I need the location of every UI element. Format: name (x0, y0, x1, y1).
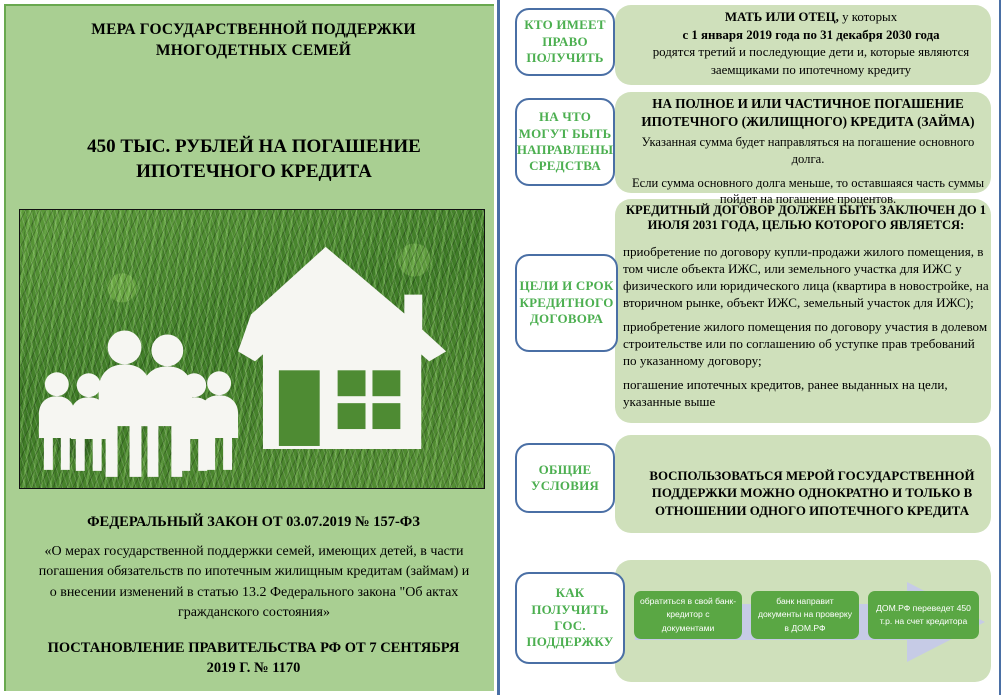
paper-cutout-silhouettes (20, 210, 484, 489)
section-body-use-of-funds: НА ПОЛНОЕ И ИЛИ ЧАСТИЧНОЕ ПОГАШЕНИЕ ИПОТ… (626, 95, 990, 208)
badge-general-conditions[interactable]: ОБЩИЕ УСЛОВИЯ (515, 443, 615, 513)
right-border-line (999, 0, 1001, 695)
purpose-heading: КРЕДИТНЫЙ ДОГОВОР ДОЛЖЕН БЫТЬ ЗАКЛЮЧЕН Д… (623, 203, 989, 234)
eligible-dates: с 1 января 2019 года по 31 декабря 2030 … (635, 27, 987, 45)
eligible-lead-tail: у которых (839, 10, 897, 24)
process-step-3[interactable]: ДОМ.РФ переведет 450 т.р. на счет кредит… (868, 591, 979, 639)
section-body-who-is-eligible: МАТЬ ИЛИ ОТЕЦ, у которых с 1 января 2019… (635, 9, 987, 79)
badge-how-to-apply[interactable]: КАК ПОЛУЧИТЬ ГОС. ПОДДЕРЖКУ (515, 572, 625, 664)
federal-law-title: ФЕДЕРАЛЬНЫЙ ЗАКОН ОТ 03.07.2019 № 157-ФЗ (46, 514, 461, 531)
government-resolution: ПОСТАНОВЛЕНИЕ ПРАВИТЕЛЬСТВА РФ ОТ 7 СЕНТ… (46, 639, 461, 678)
badge-purpose-and-term[interactable]: ЦЕЛИ И СРОК КРЕДИТНОГО ДОГОВОРА (515, 254, 618, 352)
family-house-photo (19, 209, 485, 489)
eligible-body: родятся третий и последующие дети и, кот… (635, 44, 987, 79)
purpose-item-1: приобретение по договору купли-продажи ж… (623, 243, 989, 311)
section-body-general-conditions: ВОСПОЛЬЗОВАТЬСЯ МЕРОЙ ГОСУДАРСТВЕННОЙ ПО… (638, 468, 986, 520)
process-step-2[interactable]: банк направит документы на проверку в ДО… (751, 591, 859, 639)
federal-law-body: «О мерах государственной поддержки семей… (38, 542, 470, 624)
badge-use-of-funds[interactable]: НА ЧТО МОГУТ БЫТЬ НАПРАВЛЕНЫ СРЕДСТВА (515, 98, 615, 186)
purpose-item-2: приобретение жилого помещения по договор… (623, 318, 989, 369)
section-body-purpose-and-term: КРЕДИТНЫЙ ДОГОВОР ДОЛЖЕН БЫТЬ ЗАКЛЮЧЕН Д… (623, 203, 989, 417)
process-step-1[interactable]: обратиться в свой банк-кредитор с докуме… (634, 591, 742, 639)
left-panel: МЕРА ГОСУДАРСТВЕННОЙ ПОДДЕРЖКИ МНОГОДЕТН… (4, 4, 494, 691)
eligible-lead: МАТЬ ИЛИ ОТЕЦ, (725, 10, 839, 24)
right-column: КТО ИМЕЕТ ПРАВО ПОЛУЧИТЬ МАТЬ ИЛИ ОТЕЦ, … (500, 0, 1003, 695)
badge-who-is-eligible[interactable]: КТО ИМЕЕТ ПРАВО ПОЛУЧИТЬ (515, 8, 615, 76)
use-of-funds-heading: НА ПОЛНОЕ И ИЛИ ЧАСТИЧНОЕ ПОГАШЕНИЕ ИПОТ… (626, 95, 990, 130)
use-of-funds-p1: Указанная сумма будет направляться на по… (626, 134, 990, 167)
benefit-amount-headline: 450 ТЫС. РУБЛЕЙ НА ПОГАШЕНИЕ ИПОТЕЧНОГО … (44, 134, 464, 185)
purpose-item-3: погашение ипотечных кредитов, ранее выда… (623, 376, 989, 410)
page-title: МЕРА ГОСУДАРСТВЕННОЙ ПОДДЕРЖКИ МНОГОДЕТН… (61, 20, 446, 61)
